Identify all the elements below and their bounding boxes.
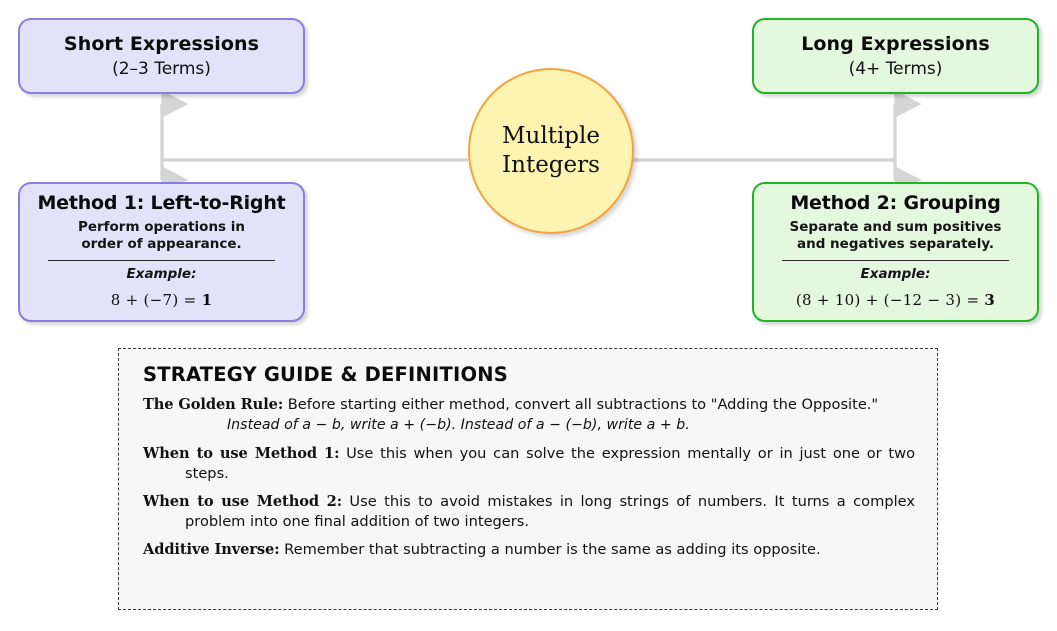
guide-entry-term: When to use Method 1: <box>143 445 339 462</box>
long-expressions-title: Long Expressions <box>801 34 990 55</box>
short-expressions-title: Short Expressions <box>64 34 259 55</box>
method-1-example-label: Example: <box>127 266 197 282</box>
method-1-description-line2: order of appearance. <box>78 236 245 253</box>
strategy-guide-heading: STRATEGY GUIDE & DEFINITIONS <box>143 363 915 386</box>
method-2-example-label: Example: <box>861 266 931 282</box>
guide-entry: The Golden Rule: Before starting either … <box>143 395 915 435</box>
method-2-expression-result: 3 <box>984 291 995 309</box>
node-long-expressions[interactable]: Long Expressions (4+ Terms) <box>752 18 1039 94</box>
method-2-divider <box>782 260 1010 261</box>
method-1-expression-result: 1 <box>202 291 213 309</box>
guide-entry-term: When to use Method 2: <box>143 493 342 510</box>
hub-line-1: Multiple <box>502 122 600 151</box>
guide-entry: Additive Inverse: Remember that subtract… <box>143 540 915 559</box>
method-1-example-expression: 8 + (−7) = 1 <box>111 291 213 309</box>
method-2-description-line1: Separate and sum positives <box>790 219 1002 236</box>
method-2-example-expression: (8 + 10) + (−12 − 3) = 3 <box>796 291 995 309</box>
method-2-expression-text: (8 + 10) + (−12 − 3) = <box>796 291 985 309</box>
strategy-guide-panel: STRATEGY GUIDE & DEFINITIONS The Golden … <box>118 348 938 610</box>
method-1-description-line1: Perform operations in <box>78 219 245 236</box>
short-expressions-subtitle: (2–3 Terms) <box>112 60 211 79</box>
method-2-description-line2: and negatives separately. <box>790 236 1002 253</box>
guide-entry-sub: Instead of a − b, write a + (−b). Instea… <box>185 416 915 435</box>
node-method-1[interactable]: Method 1: Left-to-Right Perform operatio… <box>18 182 305 322</box>
hub-line-2: Integers <box>502 151 600 180</box>
node-multiple-integers-hub[interactable]: Multiple Integers <box>468 68 634 234</box>
guide-entry: When to use Method 1: Use this when you … <box>143 444 915 483</box>
diagram-canvas: Short Expressions (2–3 Terms) Long Expre… <box>0 0 1057 631</box>
node-short-expressions[interactable]: Short Expressions (2–3 Terms) <box>18 18 305 94</box>
method-2-description: Separate and sum positives and negatives… <box>790 219 1002 253</box>
long-expressions-subtitle: (4+ Terms) <box>849 60 943 79</box>
guide-entry-term: The Golden Rule: <box>143 396 283 413</box>
guide-entry-body: Remember that subtracting a number is th… <box>280 541 821 558</box>
node-method-2[interactable]: Method 2: Grouping Separate and sum posi… <box>752 182 1039 322</box>
method-1-description: Perform operations in order of appearanc… <box>78 219 245 253</box>
guide-entry-term: Additive Inverse: <box>143 541 280 558</box>
guide-entry: When to use Method 2: Use this to avoid … <box>143 492 915 531</box>
method-1-title: Method 1: Left-to-Right <box>37 193 285 215</box>
method-1-expression-text: 8 + (−7) = <box>111 291 202 309</box>
guide-entry-body: Before starting either method, convert a… <box>283 396 878 413</box>
method-2-title: Method 2: Grouping <box>790 193 1000 215</box>
method-1-divider <box>48 260 276 261</box>
